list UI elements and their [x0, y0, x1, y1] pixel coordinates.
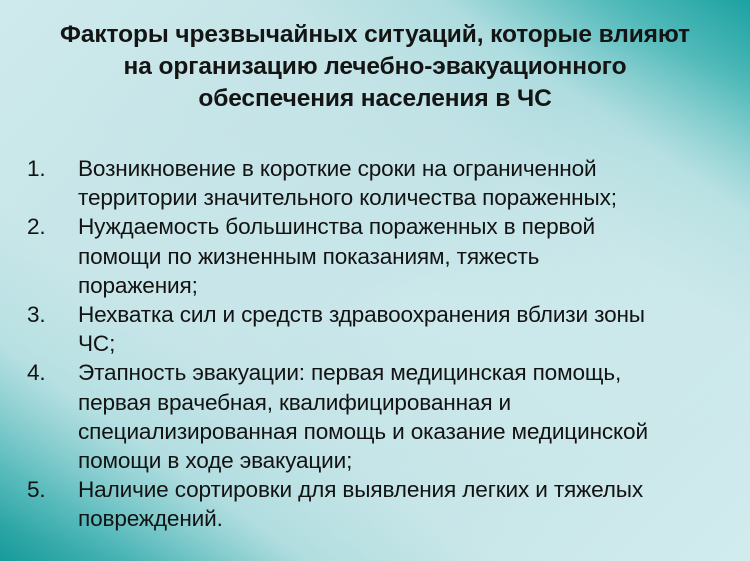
list-item-text: Нуждаемость большинства пораженных в пер… — [78, 212, 726, 300]
list-item-line: Наличие сортировки для выявления легких … — [78, 475, 726, 504]
numbered-list: 1. Возникновение в короткие сроки на огр… — [0, 154, 750, 534]
list-item-line: специализированная помощь и оказание мед… — [78, 417, 726, 446]
slide-title-line-2: на организацию лечебно-эвакуационного — [32, 51, 718, 83]
list-item-line: первая врачебная, квалифицированная и — [78, 388, 726, 417]
list-item-line: Этапность эвакуации: первая медицинская … — [78, 358, 726, 387]
slide-title: Факторы чрезвычайных ситуаций, которые в… — [32, 19, 718, 115]
list-item-line: территории значительного количества пора… — [78, 183, 726, 212]
list-item-line: ЧС; — [78, 329, 726, 358]
slide-title-line-3: обеспечения населения в ЧС — [32, 83, 718, 115]
list-item-number: 5. — [27, 475, 69, 504]
list-item: 3. Нехватка сил и средств здравоохранени… — [0, 300, 750, 358]
list-item: 1. Возникновение в короткие сроки на огр… — [0, 154, 750, 212]
list-item-text: Этапность эвакуации: первая медицинская … — [78, 358, 726, 475]
list-item: 2. Нуждаемость большинства пораженных в … — [0, 212, 750, 300]
list-item-number: 1. — [27, 154, 69, 183]
list-item-text: Наличие сортировки для выявления легких … — [78, 475, 726, 533]
list-item-number: 3. — [27, 300, 69, 329]
list-item-line: Нехватка сил и средств здравоохранения в… — [78, 300, 726, 329]
list-item: 4. Этапность эвакуации: первая медицинск… — [0, 358, 750, 475]
list-item-line: повреждений. — [78, 504, 726, 533]
slide-title-line-1: Факторы чрезвычайных ситуаций, которые в… — [32, 19, 718, 51]
list-item-line: помощи по жизненным показаниям, тяжесть — [78, 242, 726, 271]
list-item-number: 4. — [27, 358, 69, 387]
slide-content: Факторы чрезвычайных ситуаций, которые в… — [0, 0, 750, 561]
list-item-line: Возникновение в короткие сроки на ограни… — [78, 154, 726, 183]
list-item-line: Нуждаемость большинства пораженных в пер… — [78, 212, 726, 241]
presentation-slide: Факторы чрезвычайных ситуаций, которые в… — [0, 0, 750, 561]
list-item-line: поражения; — [78, 271, 726, 300]
list-item: 5. Наличие сортировки для выявления легк… — [0, 475, 750, 533]
list-item-number: 2. — [27, 212, 69, 241]
list-item-text: Нехватка сил и средств здравоохранения в… — [78, 300, 726, 358]
list-item-line: помощи в ходе эвакуации; — [78, 446, 726, 475]
list-item-text: Возникновение в короткие сроки на ограни… — [78, 154, 726, 212]
